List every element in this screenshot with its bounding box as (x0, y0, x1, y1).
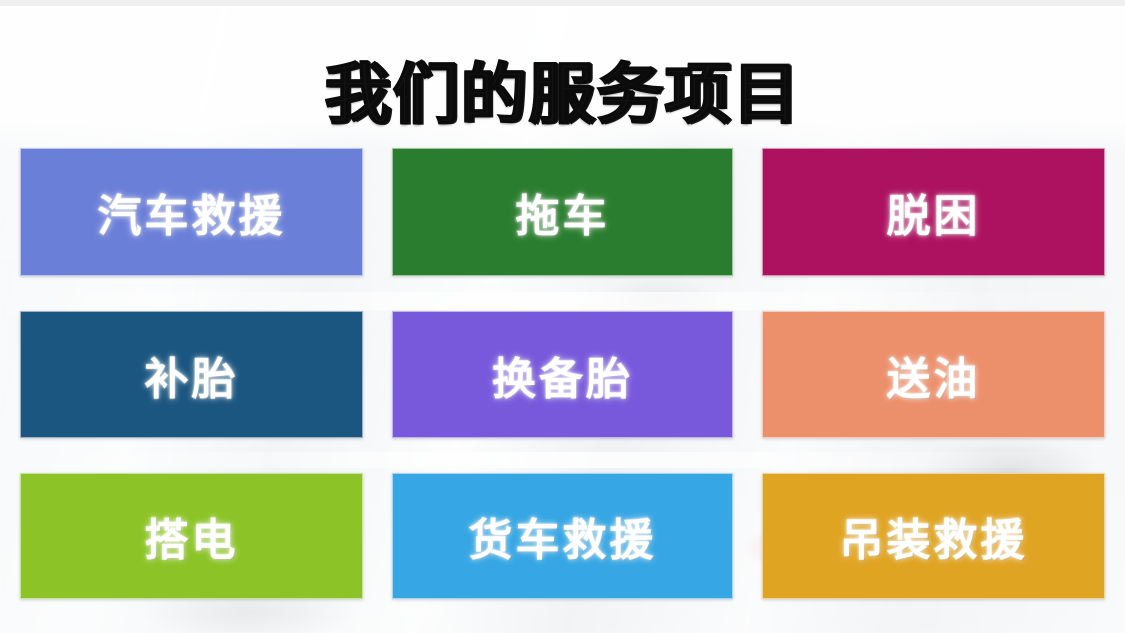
service-tile-label: 送油 (887, 343, 981, 407)
top-edge-band (0, 0, 1125, 6)
service-tile-crane-lift-rescue[interactable]: 吊装救援 (762, 473, 1105, 599)
service-tile-spare-tire-change[interactable]: 换备胎 (392, 311, 733, 438)
service-tile-tire-repair[interactable]: 补胎 (20, 311, 363, 438)
service-tile-label: 吊装救援 (840, 504, 1028, 568)
poster-title-container: 我们的服务项目 (0, 16, 1125, 174)
service-tile-grid: 汽车救援 拖车 脱困 补胎 换备胎 送油 搭电 货车救援 吊装救援 (20, 148, 1105, 598)
service-tile-fuel-delivery[interactable]: 送油 (762, 311, 1105, 438)
service-tile-label: 货车救援 (469, 504, 657, 568)
service-tile-label: 脱困 (887, 180, 981, 244)
service-tile-label: 拖车 (516, 180, 610, 244)
service-tile-label: 补胎 (145, 343, 239, 407)
service-tile-jump-start[interactable]: 搭电 (20, 473, 363, 599)
service-tile-truck-rescue[interactable]: 货车救援 (392, 473, 733, 599)
service-tile-label: 搭电 (145, 504, 239, 568)
page-title: 我们的服务项目 (325, 60, 801, 129)
service-poster: 我们的服务项目 汽车救援 拖车 脱困 补胎 换备胎 送油 搭电 货车救援 吊装救… (0, 0, 1125, 633)
service-tile-label: 汽车救援 (98, 180, 286, 244)
service-tile-label: 换备胎 (492, 343, 633, 407)
